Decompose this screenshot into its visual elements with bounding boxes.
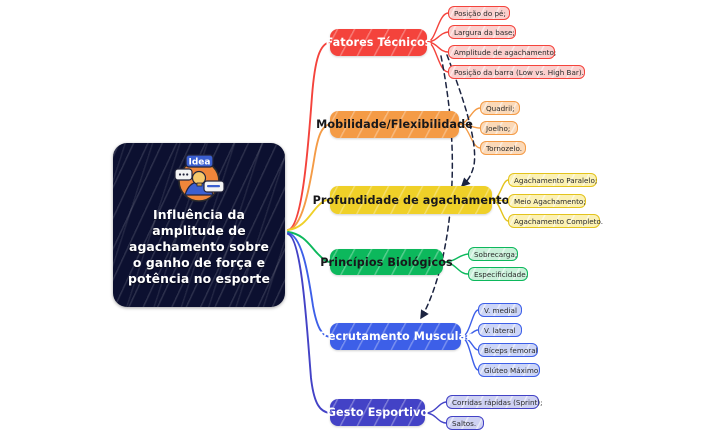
leaf-node[interactable]: V. lateral (478, 323, 522, 337)
leaf-label: Sobrecarga; (474, 250, 517, 259)
branch-label: Fatores Técnicos (326, 36, 432, 49)
branch-label: Recrutamento Muscular (319, 330, 472, 343)
leaf-node[interactable]: Corridas rápidas (Sprint); (446, 395, 539, 409)
leaf-label: Agachamento Completo. (514, 217, 603, 226)
central-node-title: Influência da amplitude de agachamento s… (124, 207, 274, 287)
branch-node-principios-biologicos[interactable]: Princípios Biológicos (330, 249, 443, 275)
leaf-label: Amplitude de agachamento; (454, 48, 556, 57)
leaf-node[interactable]: Especificidade. (468, 267, 528, 281)
branch-label: Gesto Esportivo (327, 406, 429, 419)
trunk-recrutamento (288, 233, 330, 337)
leaf-label: Posição da barra (Low vs. High Bar). (454, 68, 584, 77)
leaf-node[interactable]: Meio Agachamento; (508, 194, 586, 208)
leaf-label: Tornozelo. (486, 144, 522, 153)
leaf-node[interactable]: Joelho; (480, 121, 518, 135)
leaf-label: Corridas rápidas (Sprint); (452, 398, 543, 407)
leaf-label: Saltos. (452, 419, 476, 428)
leaf-label: Especificidade. (474, 270, 528, 279)
central-node[interactable]: Idea Influência da amplitude de agachame… (113, 143, 285, 307)
leaf-node[interactable]: Posição da barra (Low vs. High Bar). (448, 65, 585, 79)
leaf-label: Glúteo Máximo (484, 366, 538, 375)
branch-label: Princípios Biológicos (320, 256, 453, 269)
leaf-node[interactable]: Largura da base; (448, 25, 516, 39)
leaf-node[interactable]: Quadril; (480, 101, 520, 115)
leaf-label: Bíceps femoral (484, 346, 538, 355)
branch-node-profundidade-de-agachamento[interactable]: Profundidade de agachamento (330, 186, 492, 214)
leaf-node[interactable]: Saltos. (446, 416, 484, 430)
leaf-node[interactable]: V. medial (478, 303, 522, 317)
leaf-label: Largura da base; (454, 28, 515, 37)
idea-emblem-icon: Idea (171, 151, 227, 205)
leaf-node[interactable]: Bíceps femoral (478, 343, 538, 357)
leaf-node[interactable]: Posição do pé; (448, 6, 510, 20)
branch-node-recrutamento-muscular[interactable]: Recrutamento Muscular (330, 323, 461, 350)
leaf-label: Joelho; (486, 124, 510, 133)
leaf-node[interactable]: Amplitude de agachamento; (448, 45, 555, 59)
leaf-node[interactable]: Agachamento Paralelo; (508, 173, 597, 187)
branch-label: Profundidade de agachamento (313, 194, 510, 207)
leaf-label: Agachamento Paralelo; (514, 176, 597, 185)
leaf-label: V. medial (484, 306, 517, 315)
branch-node-mobilidade-flexibilidade[interactable]: Mobilidade/Flexibilidade (330, 111, 459, 138)
branch-label: Mobilidade/Flexibilidade (316, 118, 473, 131)
leaf-node[interactable]: Agachamento Completo. (508, 214, 600, 228)
mindmap-canvas: Idea Influência da amplitude de agachame… (0, 0, 707, 438)
branch-node-fatores-tecnicos[interactable]: Fatores Técnicos (330, 29, 427, 56)
branch-node-gesto-esportivo[interactable]: Gesto Esportivo (330, 399, 425, 426)
idea-emblem-label: Idea (189, 157, 211, 167)
leaf-node[interactable]: Sobrecarga; (468, 247, 518, 261)
leaf-label: Posição do pé; (454, 9, 506, 18)
leaf-label: Meio Agachamento; (514, 197, 586, 206)
leaf-node[interactable]: Tornozelo. (480, 141, 526, 155)
leaf-label: Quadril; (486, 104, 515, 113)
leaf-node[interactable]: Glúteo Máximo (478, 363, 540, 377)
leaf-label: V. lateral (484, 326, 516, 335)
trunk-mobilidade (288, 124, 330, 230)
